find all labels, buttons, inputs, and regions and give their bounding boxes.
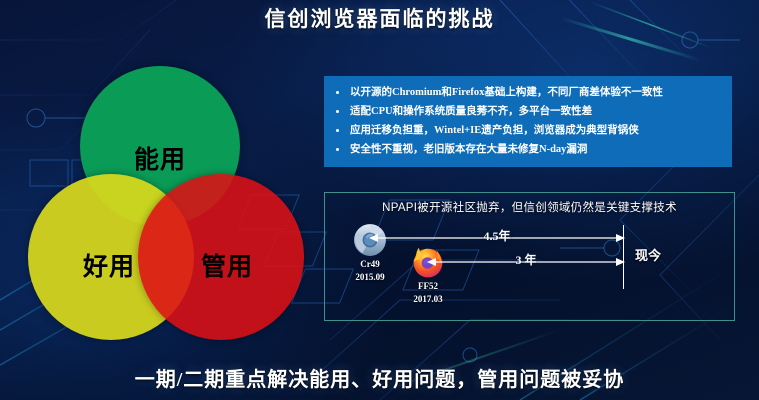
timeline-node-firefox: FF52 2017.03: [391, 245, 465, 305]
venn-circle-red: 管用: [138, 174, 304, 340]
challenges-list: 以开源的Chromium和Firefox基础上构建，不同厂商差体验不一致性 适配…: [324, 83, 732, 159]
npapi-title: NPAPI被开源社区抛弃，但信创领域仍然是关键支撑技术: [325, 199, 734, 215]
timeline-node-date: 2017.03: [391, 294, 465, 305]
list-item: 以开源的Chromium和Firefox基础上构建，不同厂商差体验不一致性: [324, 83, 732, 102]
now-label: 现今: [635, 245, 661, 264]
page-title: 信创浏览器面临的挑战: [0, 3, 759, 33]
venn-diagram: 能用 好用 管用: [10, 62, 310, 354]
timespan-3-label: 3 年: [511, 251, 540, 268]
bottom-banner: 一期/二期重点解决能用、好用问题，管用问题被妥协: [0, 363, 759, 392]
list-item: 应用迁移负担重，Wintel+IE遗产负担，浏览器成为典型背锅侠: [324, 121, 732, 140]
timeline-node-name: FF52: [391, 281, 465, 292]
timespan-45: 4.5年: [369, 231, 625, 245]
venn-label-green: 能用: [134, 140, 186, 176]
timespan-3: 3 年: [427, 255, 625, 269]
list-item: 适配CPU和操作系统质量良莠不齐，多平台一致性差: [324, 102, 732, 121]
timespan-45-label: 4.5年: [479, 227, 514, 244]
venn-label-yellow: 好用: [83, 247, 135, 283]
venn-label-red: 管用: [201, 247, 253, 283]
npapi-panel: NPAPI被开源社区抛弃，但信创领域仍然是关键支撑技术: [324, 192, 735, 321]
slide-canvas: 信创浏览器面临的挑战 能用 好用 管用 以开源的Chromium和Firefox…: [0, 0, 759, 400]
challenges-panel: 以开源的Chromium和Firefox基础上构建，不同厂商差体验不一致性 适配…: [324, 76, 732, 167]
list-item: 安全性不重视，老旧版本存在大量未修复N-day漏洞: [324, 140, 732, 159]
